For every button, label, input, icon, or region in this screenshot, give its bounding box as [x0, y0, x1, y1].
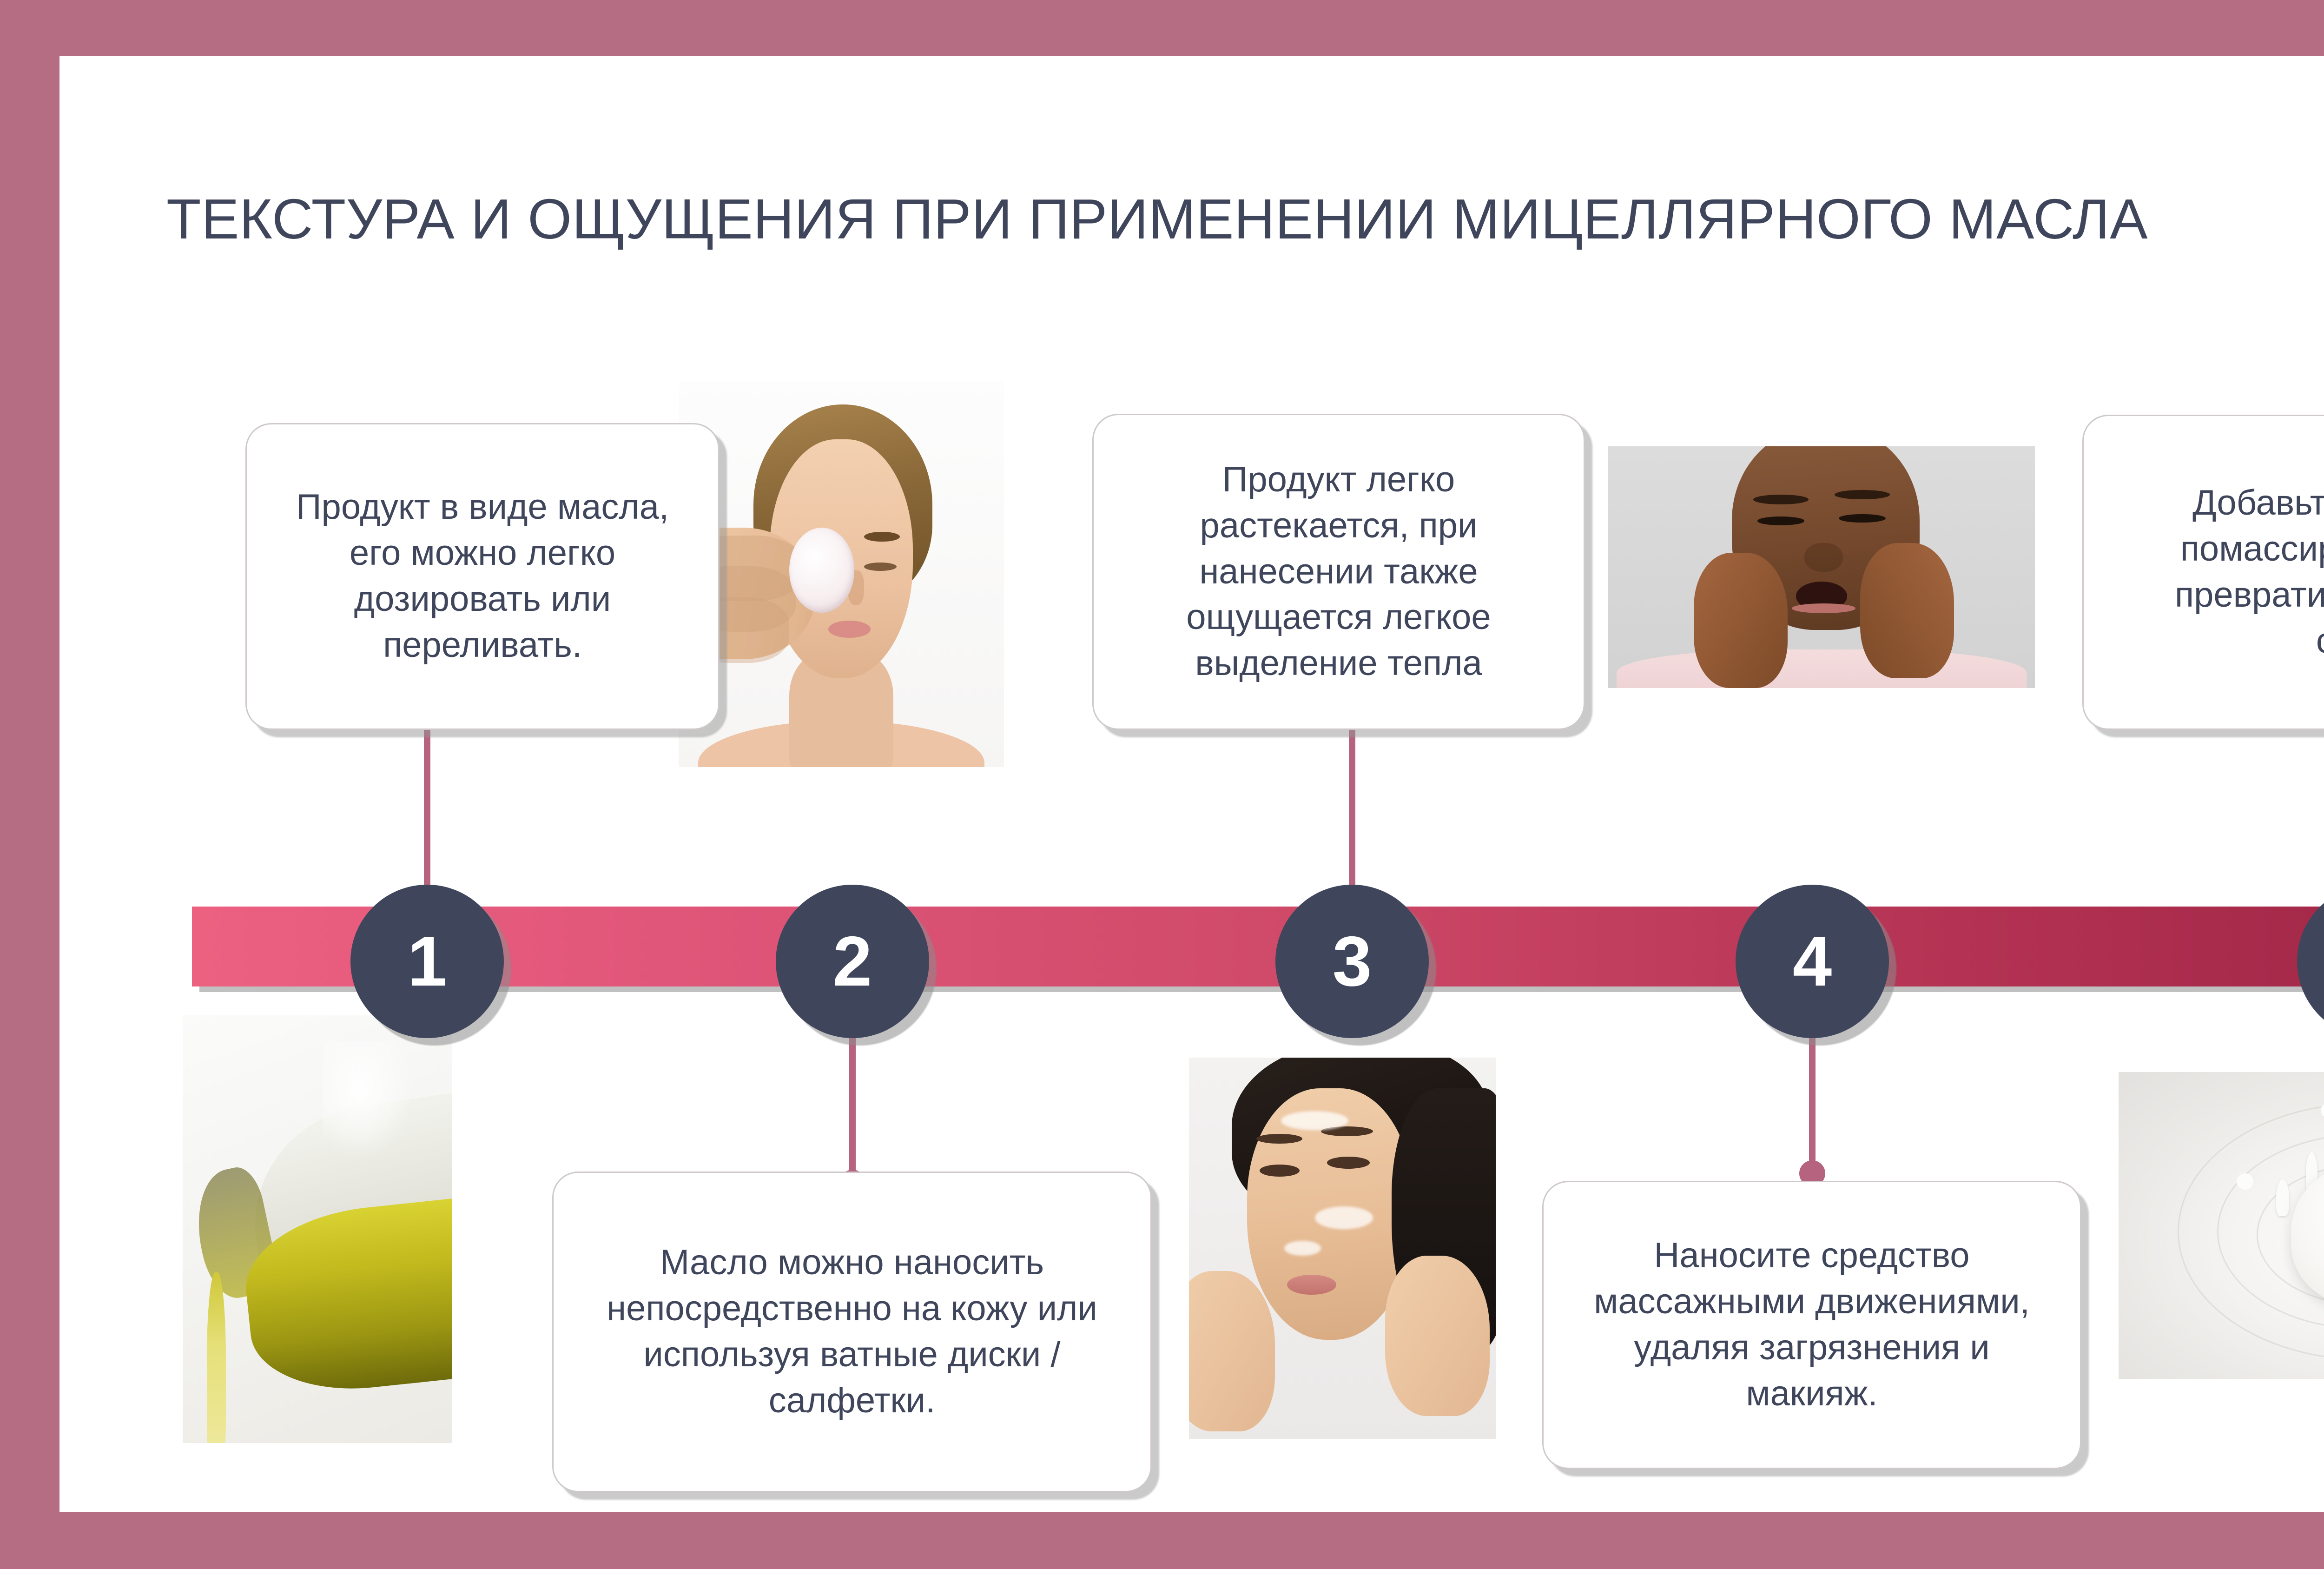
callout-text-step-2: Масло можно наносить непосредственно на … [579, 1240, 1125, 1423]
step-number-4: 4 [1793, 921, 1832, 1002]
woman-cotton-pad-photo [679, 381, 1004, 767]
callout-text-step-4: Наносите средство массажными движениями,… [1569, 1233, 2055, 1417]
man-massaging-face-photo [1608, 446, 2035, 688]
page-title: ТЕКСТУРА И ОЩУЩЕНИЯ ПРИ ПРИМЕНЕНИИ МИЦЕЛ… [166, 186, 2324, 253]
callout-step-1[interactable]: Продукт в виде масла, его можно легко до… [245, 423, 720, 730]
olive-oil-pouring-photo [183, 1015, 452, 1443]
slide: ТЕКСТУРА И ОЩУЩЕНИЯ ПРИ ПРИМЕНЕНИИ МИЦЕЛ… [0, 0, 2324, 1569]
timeline-arrow [192, 869, 2324, 1023]
milk-splash-photo [2119, 1072, 2324, 1379]
callout-text-step-5: Добавьте теплую воду, помассируйте, сред… [2109, 480, 2324, 664]
step-number-1: 1 [408, 921, 447, 1002]
step-number-3: 3 [1333, 921, 1372, 1002]
woman-applying-product-photo [1189, 1058, 1496, 1439]
callout-step-3[interactable]: Продукт легко растекается, при нанесении… [1092, 414, 1585, 730]
step-circle-3[interactable]: 3 [1275, 885, 1429, 1038]
timeline-arrow-shaft [192, 907, 2324, 986]
callout-step-4[interactable]: Наносите средство массажными движениями,… [1542, 1181, 2081, 1469]
step-circle-4[interactable]: 4 [1736, 885, 1889, 1038]
step-circle-1[interactable]: 1 [350, 885, 504, 1038]
step-number-2: 2 [833, 921, 872, 1002]
step-circle-2[interactable]: 2 [776, 885, 929, 1038]
callout-step-5[interactable]: Добавьте теплую воду, помассируйте, сред… [2082, 415, 2324, 730]
callout-text-step-3: Продукт легко растекается, при нанесении… [1119, 457, 1558, 687]
slide-canvas: ТЕКСТУРА И ОЩУЩЕНИЯ ПРИ ПРИМЕНЕНИИ МИЦЕЛ… [59, 56, 2324, 1512]
callout-step-2[interactable]: Масло можно наносить непосредственно на … [552, 1172, 1152, 1492]
callout-text-step-1: Продукт в виде масла, его можно легко до… [272, 484, 693, 668]
